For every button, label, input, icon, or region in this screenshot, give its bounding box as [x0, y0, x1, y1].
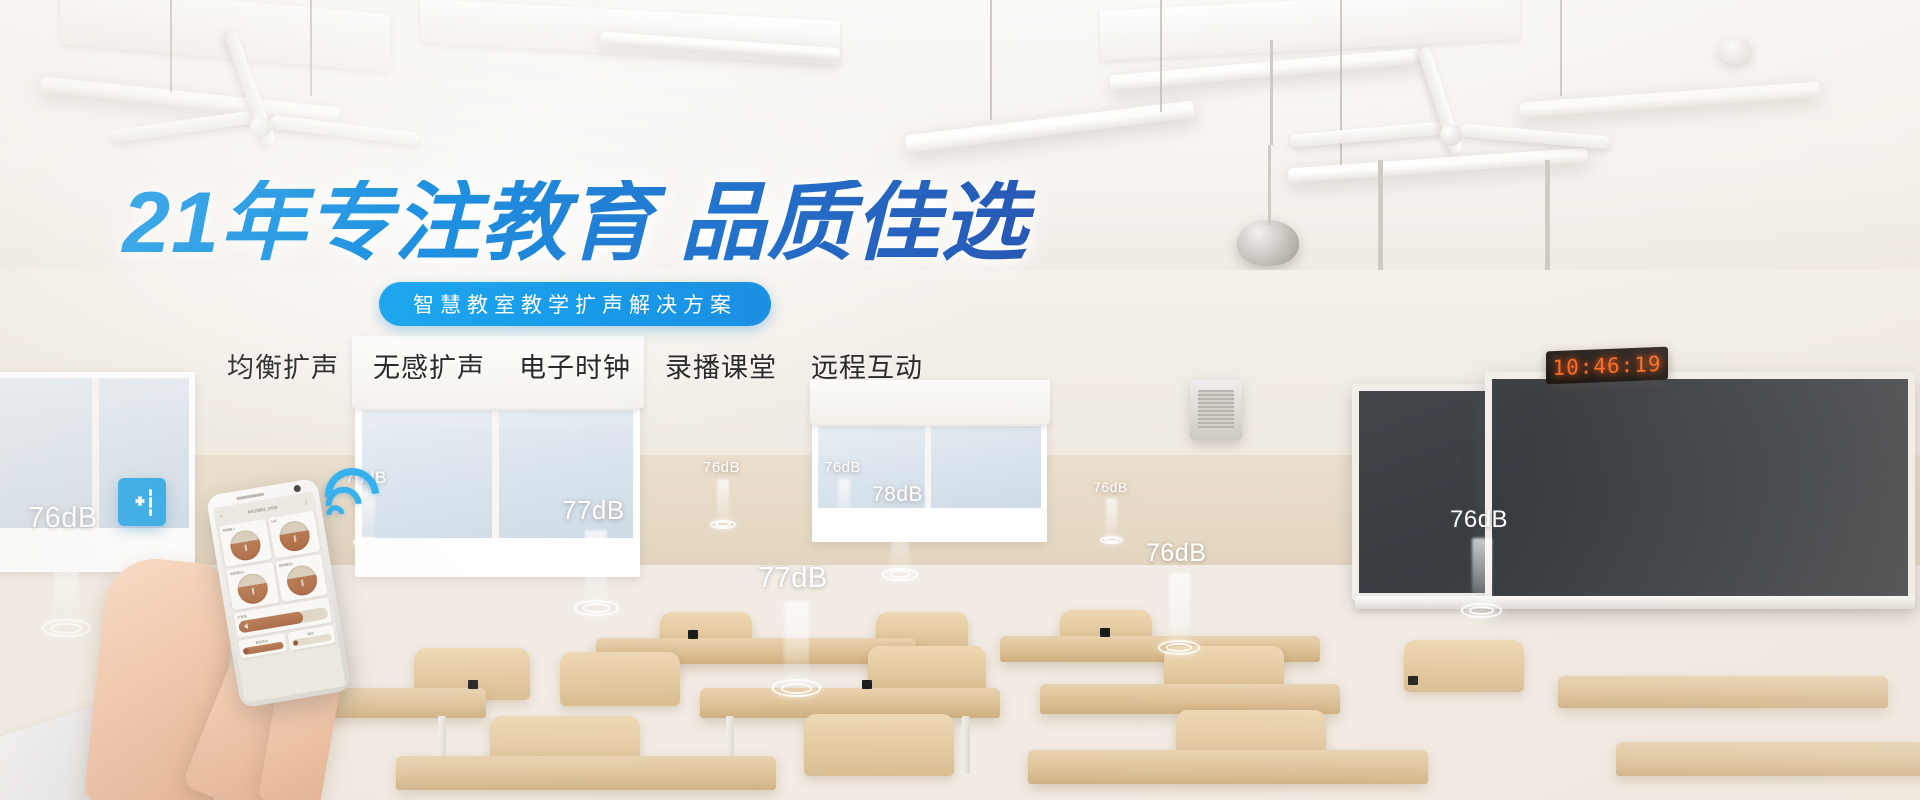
bluetooth-glyph: ᛭ — [132, 490, 147, 515]
rotary-knob[interactable] — [228, 528, 263, 563]
db-ripple — [836, 521, 852, 527]
pendant-rod — [1270, 40, 1273, 145]
desk-device — [1100, 628, 1110, 637]
bluetooth-waves — [149, 489, 152, 516]
bluetooth-icon: ᛭ — [118, 478, 166, 526]
desk-device — [1408, 676, 1418, 685]
db-light-beam — [891, 511, 909, 574]
front-camera-icon — [293, 485, 301, 493]
ceiling-sensor — [1718, 38, 1752, 64]
toggle-card[interactable]: 模式 — [287, 625, 336, 650]
hanger-wire — [1560, 0, 1562, 96]
hanger-wire — [990, 0, 992, 120]
desk-device — [688, 630, 698, 639]
subtitle-pill: 智慧教室教学扩声解决方案 — [379, 282, 771, 326]
feature-item-1: 无感扩声 — [373, 346, 485, 385]
toggle-card[interactable]: 静音开关 — [238, 633, 287, 658]
rotary-knob[interactable] — [277, 519, 312, 554]
knob-card[interactable]: 视频输出2 — [275, 554, 328, 602]
window-mullion — [925, 426, 931, 508]
knob-grid: 视频输入 MIC 视频输出1 视频输出2 — [219, 511, 328, 611]
db-ripple — [1469, 606, 1494, 615]
knob-card[interactable]: 视频输出1 — [226, 562, 279, 610]
window-mullion — [492, 410, 499, 538]
db-ripple — [781, 683, 812, 694]
digital-clock: 10:46:19 — [1546, 347, 1668, 385]
db-value-label: 78dB — [872, 483, 923, 507]
wifi-signal-icon — [323, 464, 385, 524]
db-ripple — [715, 521, 731, 527]
ceiling-speaker — [1237, 220, 1299, 266]
db-light-beam — [717, 479, 730, 524]
desk-top — [1028, 750, 1428, 784]
db-value-label: 76dB — [1093, 479, 1128, 495]
banner-text-block: 21年专注教育 品质佳选 智慧教室教学扩声解决方案 均衡扩声无感扩声电子时钟录播… — [0, 180, 1150, 385]
db-value-label: 77dB — [758, 562, 828, 595]
desk-top — [1616, 742, 1920, 776]
db-light-beam — [838, 479, 851, 524]
db-ripple — [51, 623, 82, 634]
feature-item-3: 录播课堂 — [665, 346, 777, 385]
page-title: 21年专注教育 品质佳选 — [0, 180, 1150, 266]
app-title: NX13601_0*04 — [248, 505, 278, 515]
desk-device — [862, 680, 872, 689]
rotary-knob[interactable] — [284, 563, 319, 598]
rotary-knob[interactable] — [236, 571, 271, 606]
knob-card[interactable]: MIC — [268, 511, 321, 559]
hanger-wire — [1160, 0, 1162, 112]
knob-card[interactable]: 视频输入 — [219, 519, 272, 567]
db-value-label: 76dB — [1146, 539, 1206, 568]
back-icon[interactable]: ‹ — [220, 513, 223, 519]
interactive-whiteboard — [1485, 372, 1915, 606]
feature-item-4: 远程互动 — [811, 346, 923, 385]
chair-back — [560, 652, 680, 706]
chair-back — [1404, 640, 1524, 692]
more-options-icon[interactable]: ⋮ — [303, 499, 310, 506]
clock-time: 10:46:19 — [1552, 351, 1661, 379]
desk-top — [396, 756, 776, 790]
db-light-beam — [1106, 498, 1118, 540]
pendant-rod — [1268, 145, 1271, 225]
desk-top — [1558, 676, 1888, 708]
board-tray — [1355, 596, 1915, 609]
window-blind — [810, 380, 1050, 424]
hanger-wire — [310, 0, 312, 96]
db-value-label: 77dB — [562, 495, 625, 526]
db-light-beam — [54, 541, 79, 628]
db-value-label: 76dB — [703, 459, 740, 476]
classroom-banner: 10:46:19 76dB76dB77 — [0, 0, 1920, 800]
feature-item-0: 均衡扩声 — [227, 346, 339, 385]
db-light-beam — [784, 601, 809, 688]
db-value-label: 76dB — [28, 502, 98, 535]
phone-earpiece — [236, 493, 264, 501]
chair-back — [804, 714, 954, 776]
hanger-wire — [170, 0, 172, 92]
feature-item-2: 电子时钟 — [519, 346, 631, 385]
amplifier-grill — [1198, 390, 1234, 430]
db-ripple — [583, 603, 610, 613]
db-value-label: 76dB — [824, 459, 861, 476]
desk-device — [468, 680, 478, 689]
feature-list: 均衡扩声无感扩声电子时钟录播课堂远程互动 — [0, 346, 1150, 385]
db-light-beam — [1472, 538, 1492, 610]
desk-leg — [962, 716, 970, 774]
db-value-label: 76dB — [1450, 506, 1508, 534]
db-light-beam — [1169, 573, 1190, 648]
db-light-beam — [585, 530, 607, 608]
